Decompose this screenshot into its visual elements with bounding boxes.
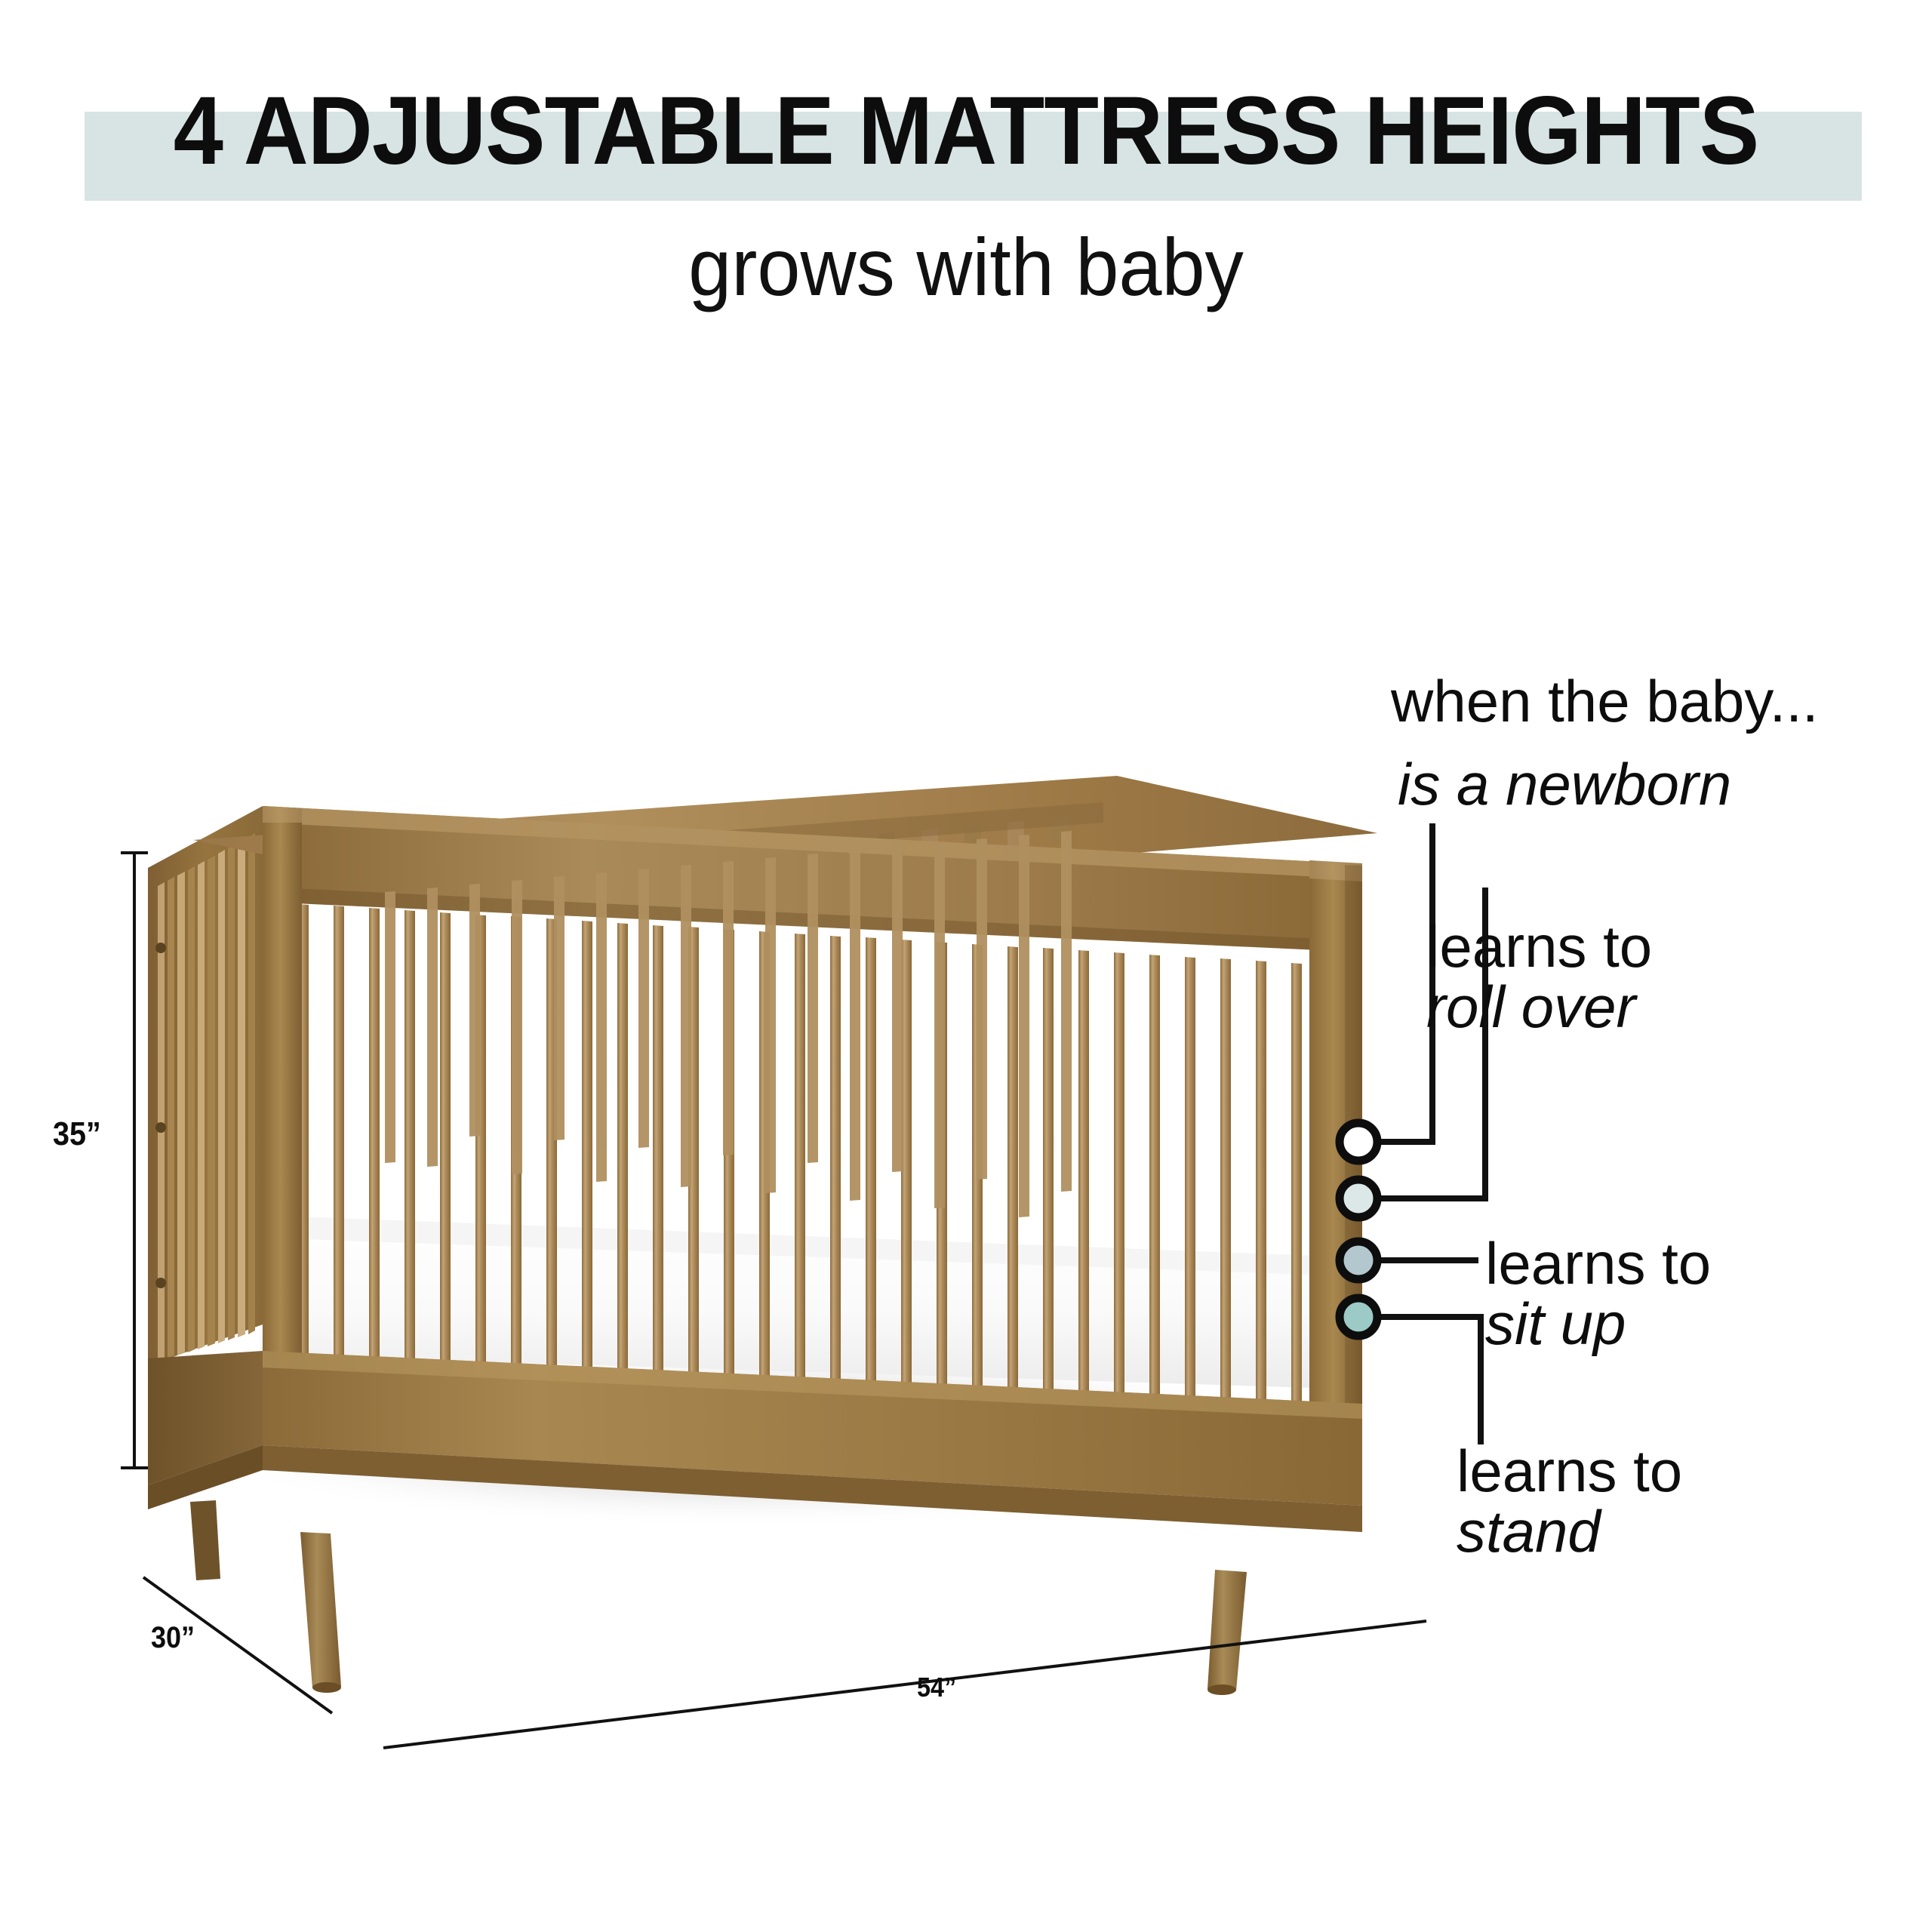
annotation-intro: when the baby... [1391,672,1819,732]
crib-leg-back-left [190,1500,220,1580]
annotation-sit-up: learns to sit up [1485,1234,1711,1354]
leader-newborn [1380,826,1432,1142]
dimension-label-height: 35” [53,1115,101,1153]
crib-front-slats [298,904,1302,1422]
leader-stand [1380,1317,1481,1441]
crib-left-end-panel [148,780,263,1366]
annotation-newborn: is a newborn [1398,755,1731,815]
crib-leg-front-right [1207,1570,1247,1690]
annotation-stand: learns to stand [1457,1441,1682,1561]
annotation-roll-over: learns to roll over [1426,917,1652,1037]
annotation-sit-up-line1: learns to [1485,1234,1711,1294]
mattress-height-dot-4 [1340,1298,1377,1336]
mattress-height-dot-1 [1340,1123,1377,1161]
mattress-height-dot-2 [1340,1180,1377,1217]
crib-leg-front-left [300,1532,341,1688]
annotation-stand-line1: learns to [1457,1441,1682,1502]
dimension-label-width: 54” [917,1672,956,1703]
annotation-stand-line2: stand [1457,1502,1682,1562]
dimension-label-depth: 30” [151,1621,195,1655]
mattress-height-dot-3 [1340,1241,1377,1279]
annotation-sit-up-line2: sit up [1485,1294,1711,1355]
annotation-intro-text: when the baby... [1391,672,1819,732]
crib-left-post [263,806,302,1362]
annotation-newborn-line2: is a newborn [1398,755,1731,815]
dim-line-width [383,1621,1426,1748]
annotation-roll-over-line1: learns to [1426,917,1652,977]
annotation-roll-over-line2: roll over [1426,977,1652,1038]
